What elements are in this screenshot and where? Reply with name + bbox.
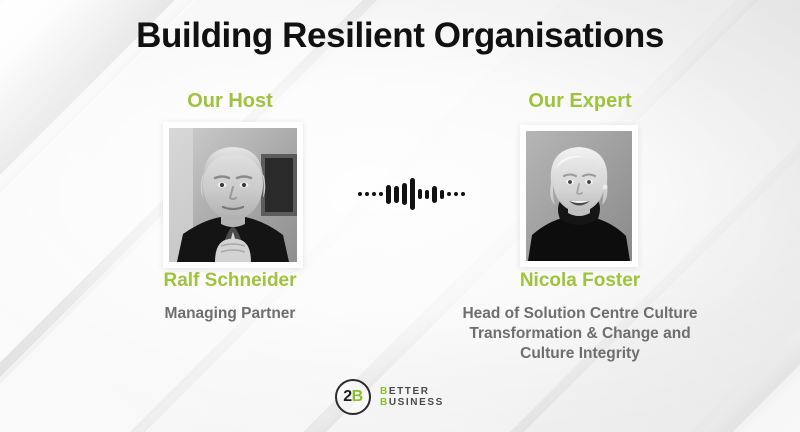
waveform-bar-6: [394, 186, 399, 203]
logo-digit-2: 2: [343, 389, 351, 405]
waveform-bar-12: [440, 190, 444, 199]
waveform-bar-14: [454, 192, 458, 196]
host-photo-frame: [163, 122, 303, 268]
host-portrait-illustration: [169, 128, 297, 262]
logo-word-better: BETTER: [380, 386, 444, 397]
host-role-label: Our Host: [90, 90, 370, 113]
logo-word-business: BUSINESS: [380, 397, 444, 408]
logo-wordmark: BETTER BUSINESS: [380, 386, 444, 408]
waveform-bar-11: [432, 186, 437, 203]
slide-content: Building Resilient Organisations Our Hos…: [0, 0, 800, 432]
waveform-bar-1: [358, 192, 362, 196]
expert-job-title-line-2: Transformation & Change and: [395, 324, 765, 344]
brand-logo: 2B BETTER BUSINESS: [335, 377, 475, 417]
expert-portrait-illustration: [526, 131, 632, 261]
logo-mark-2b: 2B: [335, 379, 371, 415]
waveform-bar-2: [365, 192, 369, 196]
waveform-bar-9: [418, 189, 422, 199]
waveform-bar-4: [379, 192, 383, 196]
logo-word-better-rest: ETTER: [389, 386, 430, 397]
presentation-slide: Building Resilient Organisations Our Hos…: [0, 0, 800, 432]
page-title: Building Resilient Organisations: [0, 16, 800, 56]
waveform-bar-10: [425, 190, 429, 199]
host-job-title: Managing Partner: [80, 304, 380, 324]
waveform-bar-7: [402, 183, 407, 205]
expert-job-title: Head of Solution Centre CultureTransform…: [395, 304, 765, 364]
expert-avatar: [526, 131, 632, 261]
logo-letter-b: B: [352, 389, 363, 405]
waveform-bar-8: [410, 178, 415, 210]
waveform-bar-3: [372, 192, 376, 196]
logo-word-business-rest: USINESS: [389, 397, 444, 408]
waveform-bar-13: [447, 192, 451, 196]
waveform-bar-5: [386, 185, 391, 204]
waveform-bar-15: [461, 192, 465, 196]
host-name: Ralf Schneider: [80, 270, 380, 292]
expert-job-title-line-3: Culture Integrity: [395, 344, 765, 364]
expert-photo-frame: [520, 125, 638, 267]
expert-role-label: Our Expert: [440, 90, 720, 113]
expert-name: Nicola Foster: [430, 270, 730, 292]
audio-waveform-icon: [335, 177, 487, 211]
expert-job-title-line-1: Head of Solution Centre Culture: [395, 304, 765, 324]
host-avatar: [169, 128, 297, 262]
